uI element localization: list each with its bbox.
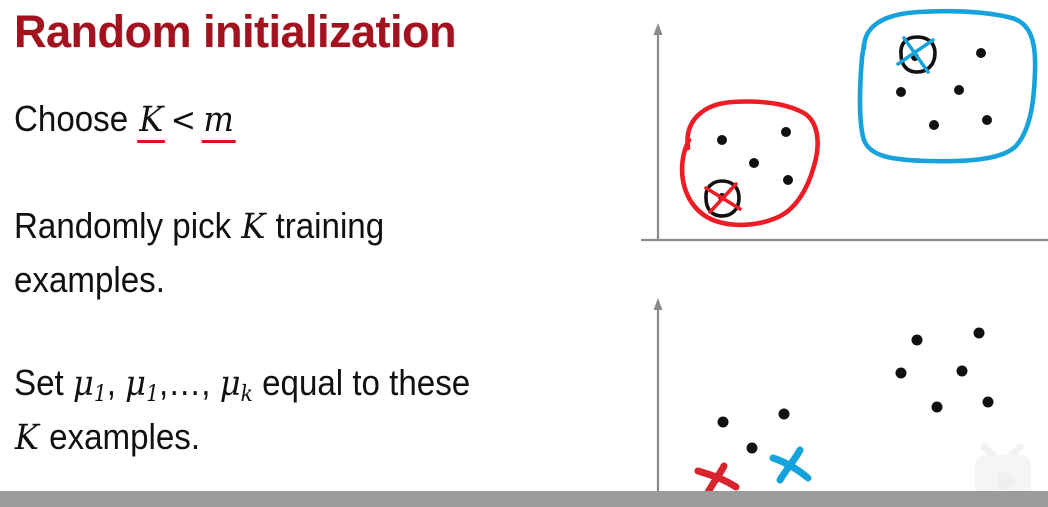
data-point bbox=[781, 127, 791, 137]
data-point bbox=[747, 443, 758, 454]
set-prefix-text: Set bbox=[14, 362, 73, 403]
line-set-mu-1: Set μ1, μ1,…, μk equal to these bbox=[14, 362, 470, 407]
data-point bbox=[779, 409, 790, 420]
blue-centroid-marker bbox=[898, 37, 935, 72]
page-title: Random initialization bbox=[14, 6, 456, 58]
line-randomly-pick-1: Randomly pick K training bbox=[14, 205, 384, 247]
variable-m-underlined: m bbox=[202, 100, 236, 143]
randomly-pick-prefix-text: Randomly pick bbox=[14, 205, 240, 246]
mu-glyph-2: μ bbox=[125, 364, 146, 404]
line-set-mu-2: K examples. bbox=[14, 416, 200, 458]
red-cluster-dots bbox=[717, 127, 793, 185]
variable-k-underlined: K bbox=[137, 100, 165, 143]
mu-subscript-2: 1 bbox=[146, 382, 159, 407]
data-point bbox=[982, 115, 992, 125]
mu-glyph-k: μ bbox=[220, 364, 241, 404]
variable-k-italic: K bbox=[240, 207, 266, 247]
axes-group bbox=[654, 298, 663, 492]
y-axis-arrowhead bbox=[654, 23, 663, 35]
blue-cluster-dots bbox=[896, 48, 992, 130]
mu-separator-2: ,…, bbox=[159, 362, 220, 403]
data-point bbox=[896, 368, 907, 379]
scatter-points bbox=[718, 328, 994, 454]
data-point bbox=[749, 158, 759, 168]
mu-1-symbol: μ1 bbox=[73, 364, 107, 404]
diagram-points-with-random-centroids bbox=[636, 268, 1048, 507]
mu-glyph-1: μ bbox=[73, 364, 94, 404]
data-point bbox=[929, 120, 939, 130]
data-point bbox=[717, 135, 727, 145]
mu-k-symbol: μk bbox=[220, 364, 253, 404]
data-point bbox=[976, 48, 986, 58]
data-point bbox=[954, 85, 964, 95]
line-choose-k-less-m: Choose K<m bbox=[14, 98, 236, 140]
red-centroid-marker bbox=[706, 181, 740, 216]
randomly-pick-suffix-text: training bbox=[266, 205, 384, 246]
mu-2-symbol: μ1 bbox=[125, 364, 159, 404]
x-stroke-b bbox=[904, 38, 928, 72]
data-point bbox=[912, 335, 923, 346]
mu-subscript-1: 1 bbox=[94, 382, 107, 407]
x-stroke-b bbox=[710, 184, 736, 212]
data-point bbox=[896, 87, 906, 97]
data-point bbox=[718, 417, 729, 428]
bottom-progress-bar[interactable] bbox=[0, 491, 1048, 507]
data-point bbox=[957, 366, 968, 377]
diagram-clusters-with-centroids bbox=[636, 0, 1048, 268]
data-point bbox=[974, 328, 985, 339]
blue-centroid-marker bbox=[773, 450, 808, 480]
examples-text: examples. bbox=[14, 259, 165, 300]
axes-group bbox=[641, 23, 1048, 241]
k-examples-suffix-text: examples. bbox=[40, 416, 200, 457]
line-randomly-pick-2: examples. bbox=[14, 259, 165, 301]
variable-k-italic-2: K bbox=[14, 418, 40, 458]
data-point bbox=[783, 175, 793, 185]
set-suffix-text: equal to these bbox=[253, 362, 470, 403]
y-axis-arrowhead bbox=[654, 298, 663, 310]
mu-separator-1: , bbox=[107, 362, 125, 403]
blue-cluster-blob bbox=[860, 11, 1035, 161]
diagram-column bbox=[636, 0, 1048, 507]
less-than-operator: < bbox=[165, 100, 201, 139]
text-column: Random initialization Choose K<m Randoml… bbox=[0, 0, 640, 507]
data-point bbox=[932, 402, 943, 413]
data-point bbox=[983, 397, 994, 408]
choose-prefix-text: Choose bbox=[14, 98, 137, 139]
mu-subscript-k: k bbox=[241, 382, 253, 407]
slide-canvas: Random initialization Choose K<m Randoml… bbox=[0, 0, 1048, 507]
